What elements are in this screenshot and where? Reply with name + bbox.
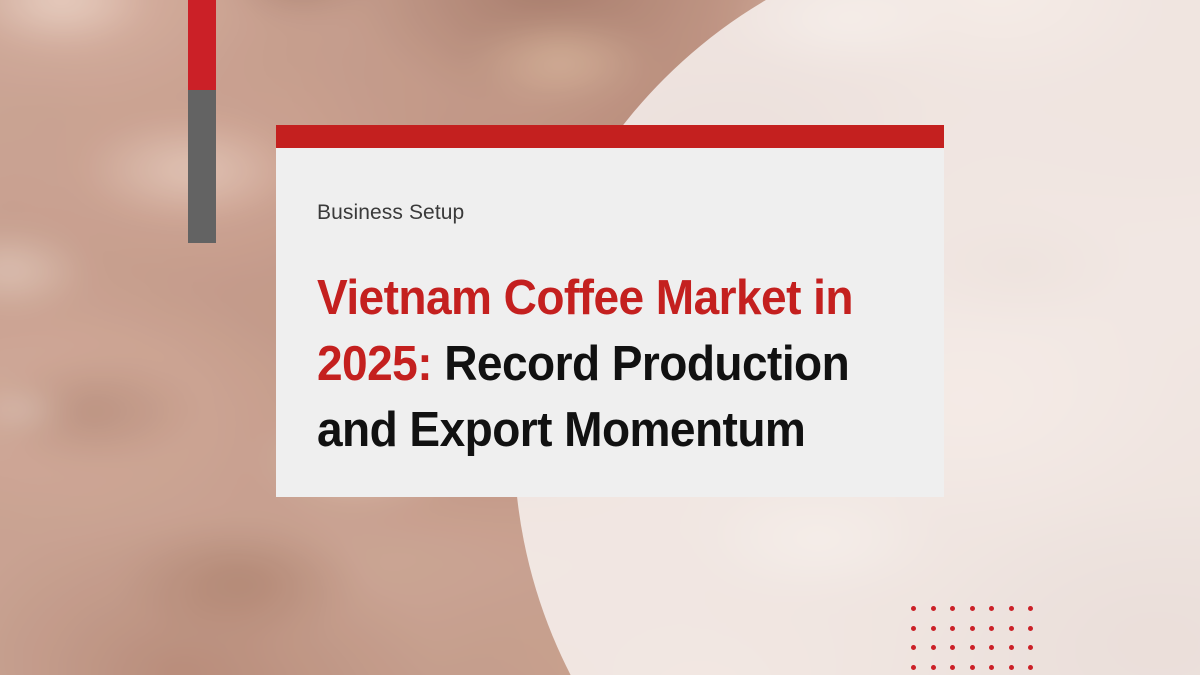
grid-dot (911, 606, 916, 611)
grid-dot (970, 606, 975, 611)
eyebrow-label: Business Setup (317, 202, 944, 223)
grid-dot (931, 606, 936, 611)
grid-dot (970, 645, 975, 650)
grid-dot (989, 665, 994, 670)
grid-dot (1009, 626, 1014, 631)
grid-dot (1028, 606, 1033, 611)
grid-dot (1028, 665, 1033, 670)
grid-dot (950, 626, 955, 631)
grid-dot (950, 665, 955, 670)
decorative-dot-grid (911, 606, 1048, 675)
accent-bar-gray-segment (188, 90, 216, 243)
page-title: Vietnam Coffee Market in 2025: Record Pr… (317, 265, 881, 463)
grid-dot (911, 665, 916, 670)
grid-dot (911, 626, 916, 631)
grid-dot (911, 645, 916, 650)
slide-canvas: Business Setup Vietnam Coffee Market in … (0, 0, 1200, 675)
grid-dot (989, 626, 994, 631)
grid-dot (1028, 645, 1033, 650)
grid-dot (970, 626, 975, 631)
accent-bar-red-segment (188, 0, 216, 90)
vertical-accent-bar (188, 0, 216, 243)
title-card: Business Setup Vietnam Coffee Market in … (276, 125, 944, 497)
grid-dot (1009, 665, 1014, 670)
grid-dot (1009, 645, 1014, 650)
title-card-body: Business Setup Vietnam Coffee Market in … (276, 148, 944, 497)
grid-dot (931, 665, 936, 670)
grid-dot (931, 626, 936, 631)
grid-dot (989, 645, 994, 650)
grid-dot (970, 665, 975, 670)
grid-dot (931, 645, 936, 650)
grid-dot (950, 606, 955, 611)
grid-dot (989, 606, 994, 611)
grid-dot (1028, 626, 1033, 631)
title-card-red-topbar (276, 125, 944, 148)
grid-dot (950, 645, 955, 650)
grid-dot (1009, 606, 1014, 611)
